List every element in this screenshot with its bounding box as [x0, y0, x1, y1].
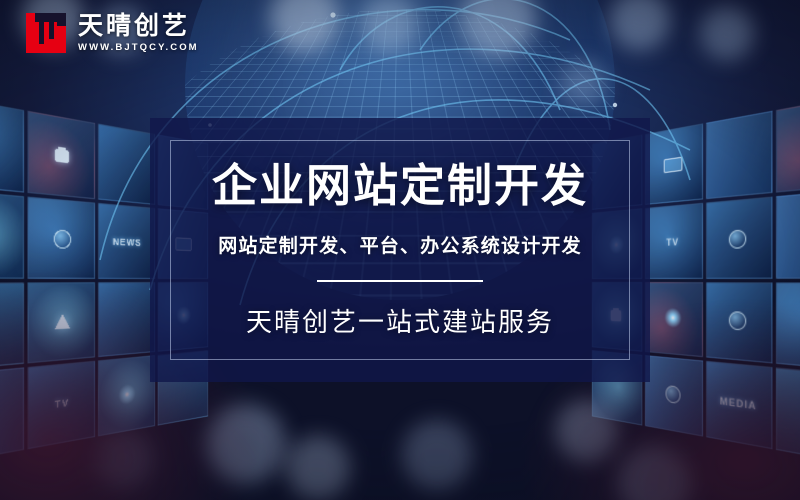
brand-website: WWW.BJTQCY.COM — [78, 42, 199, 53]
hero-panel-content: 企业网站定制开发 网站定制开发、平台、办公系统设计开发 天晴创艺一站式建站服务 — [150, 118, 650, 382]
promo-banner: NEWSTV TVMEDIA — [0, 0, 800, 500]
hero-panel: 企业网站定制开发 网站定制开发、平台、办公系统设计开发 天晴创艺一站式建站服务 — [150, 118, 650, 382]
hero-divider — [317, 280, 483, 282]
hero-headline: 企业网站定制开发 — [212, 161, 588, 211]
hero-tagline: 天晴创艺一站式建站服务 — [246, 302, 554, 339]
brand-logo-text: 天晴创艺 WWW.BJTQCY.COM — [78, 12, 199, 53]
brand-logo[interactable]: 天晴创艺 WWW.BJTQCY.COM — [26, 12, 199, 53]
hero-subline: 网站定制开发、平台、办公系统设计开发 — [218, 231, 582, 258]
brand-name: 天晴创艺 — [78, 12, 199, 39]
tianqing-logo-mark-icon — [26, 13, 66, 53]
